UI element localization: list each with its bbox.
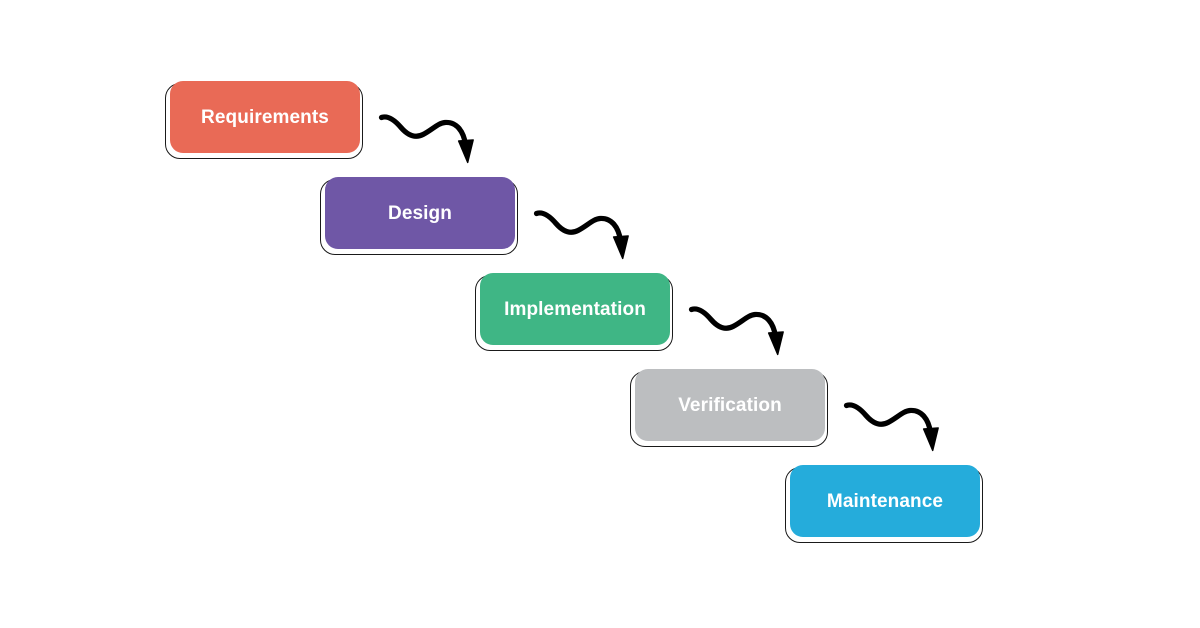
stage-label: Design [388, 204, 452, 223]
stage-label: Maintenance [827, 492, 943, 511]
stage-label: Requirements [201, 108, 329, 127]
stage-label: Verification [678, 396, 782, 415]
stage-fill: Verification [635, 369, 825, 441]
stage-fill: Implementation [480, 273, 670, 345]
stage-fill: Requirements [170, 81, 360, 153]
flow-arrowhead [614, 236, 629, 259]
flow-arrow-path [537, 213, 621, 241]
flow-arrow-4 [843, 396, 948, 458]
flow-arrow-3 [688, 300, 793, 362]
stage-fill: Maintenance [790, 465, 980, 537]
flow-arrow-path [847, 405, 931, 433]
flow-arrow-icon [843, 396, 948, 458]
waterfall-diagram: Requirements Design Implementation Verif… [0, 0, 1200, 628]
flow-arrow-icon [688, 300, 793, 362]
flow-arrow-icon [378, 108, 483, 170]
stage-fill: Design [325, 177, 515, 249]
flow-arrow-path [382, 117, 466, 145]
flow-arrow-2 [533, 204, 638, 266]
flow-arrow-1 [378, 108, 483, 170]
flow-arrowhead [924, 428, 939, 451]
flow-arrow-path [692, 309, 776, 337]
flow-arrowhead [769, 332, 784, 355]
flow-arrowhead [459, 140, 474, 163]
stage-label: Implementation [504, 300, 646, 319]
flow-arrow-icon [533, 204, 638, 266]
